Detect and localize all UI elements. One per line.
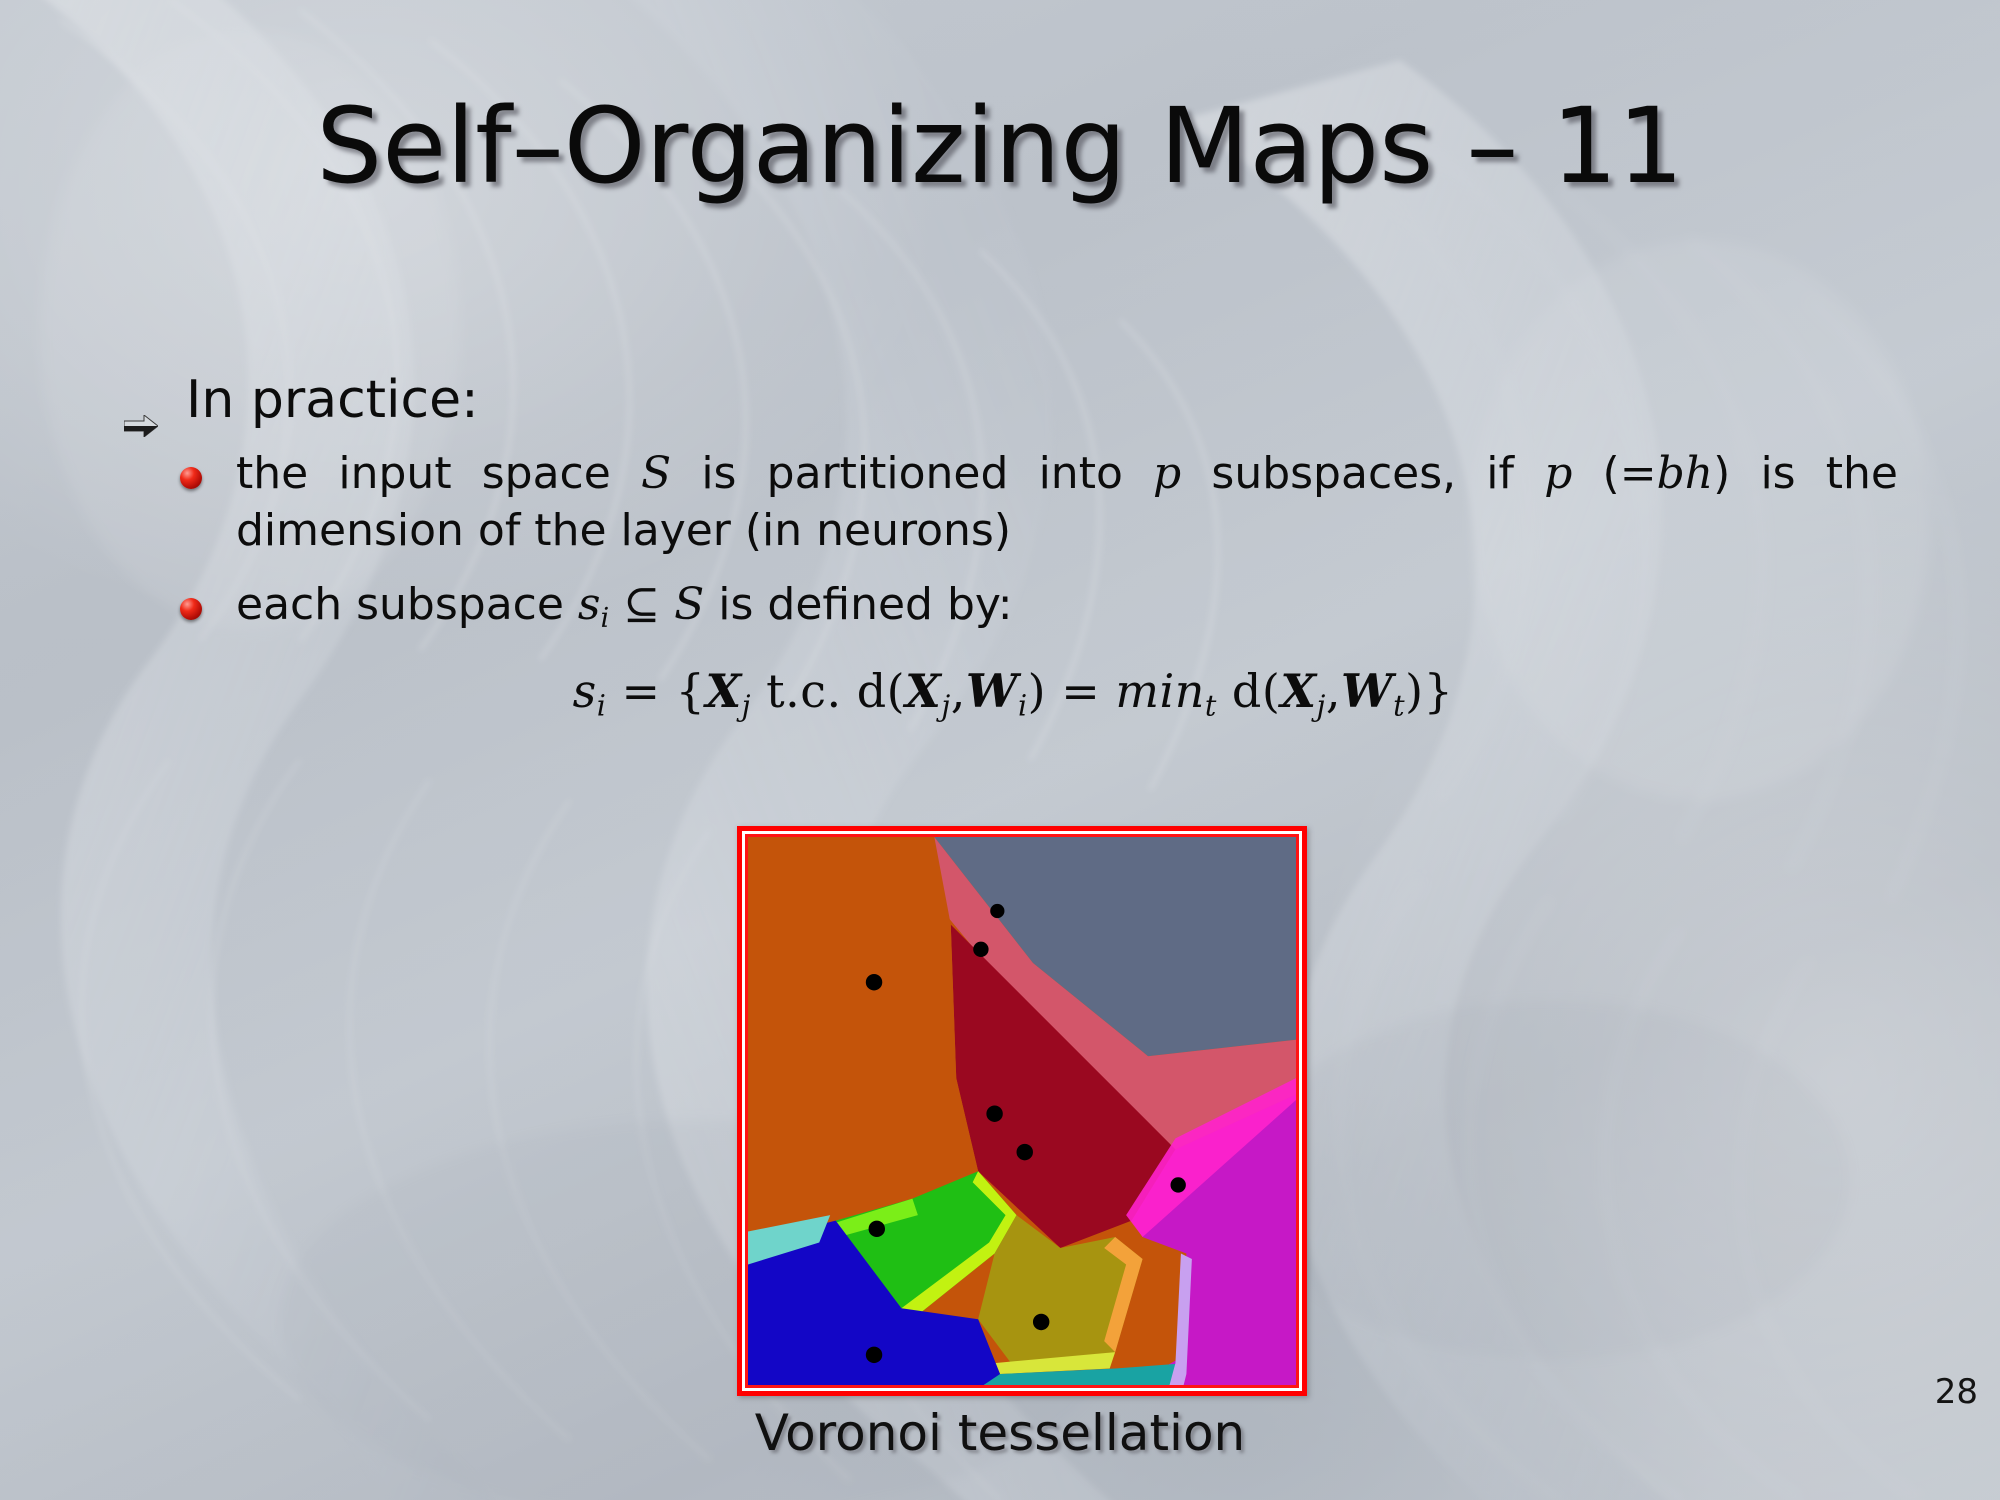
page-title: Self–Organizing Maps – 11	[0, 92, 2000, 201]
page-number: 28	[1935, 1372, 1978, 1412]
subspace-formula: si = {Xj t.c. d(Xj,Wi) = mint d(Xj,Wt)}	[118, 664, 1908, 723]
bullet-level2-text-2: each subspace si ⊆ S is defined by:	[236, 579, 1013, 630]
voronoi-tessellation-diagram	[745, 834, 1299, 1388]
voronoi-figure	[737, 826, 1307, 1396]
bullet-level2-text-1: the input space S is partitioned into p …	[236, 448, 1898, 556]
sphere-bullet-icon	[180, 598, 202, 620]
bullet-level1: In practice:	[118, 372, 1908, 429]
presentation-slide: Self–Organizing Maps – 11 In practice: t…	[0, 0, 2000, 1500]
arrow-bullet-icon	[124, 392, 158, 414]
bullet-level1-label: In practice:	[186, 370, 479, 430]
bullet-level2-item-1: the input space S is partitioned into p …	[118, 445, 1908, 559]
slide-body: In practice: the input space S is partit…	[118, 372, 1908, 723]
sphere-bullet-icon	[180, 467, 202, 489]
bullet-level2-item-2: each subspace si ⊆ S is defined by:	[118, 576, 1908, 637]
voronoi-figure-frame	[737, 826, 1307, 1396]
figure-caption: Voronoi tessellation	[0, 1404, 2000, 1462]
